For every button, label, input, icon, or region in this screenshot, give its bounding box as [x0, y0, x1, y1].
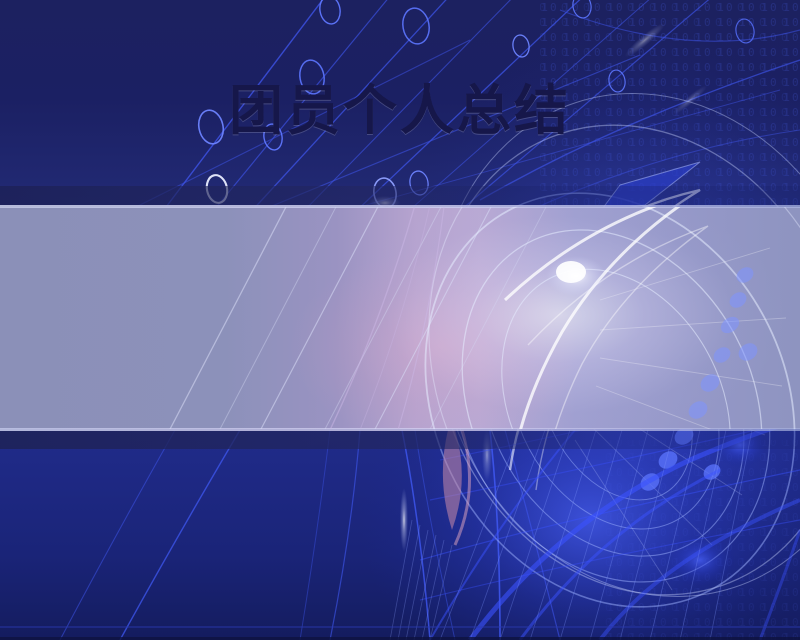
slide-canvas: 0 1 0 [0, 0, 800, 640]
slide-title: 团员个人总结 [0, 84, 800, 138]
